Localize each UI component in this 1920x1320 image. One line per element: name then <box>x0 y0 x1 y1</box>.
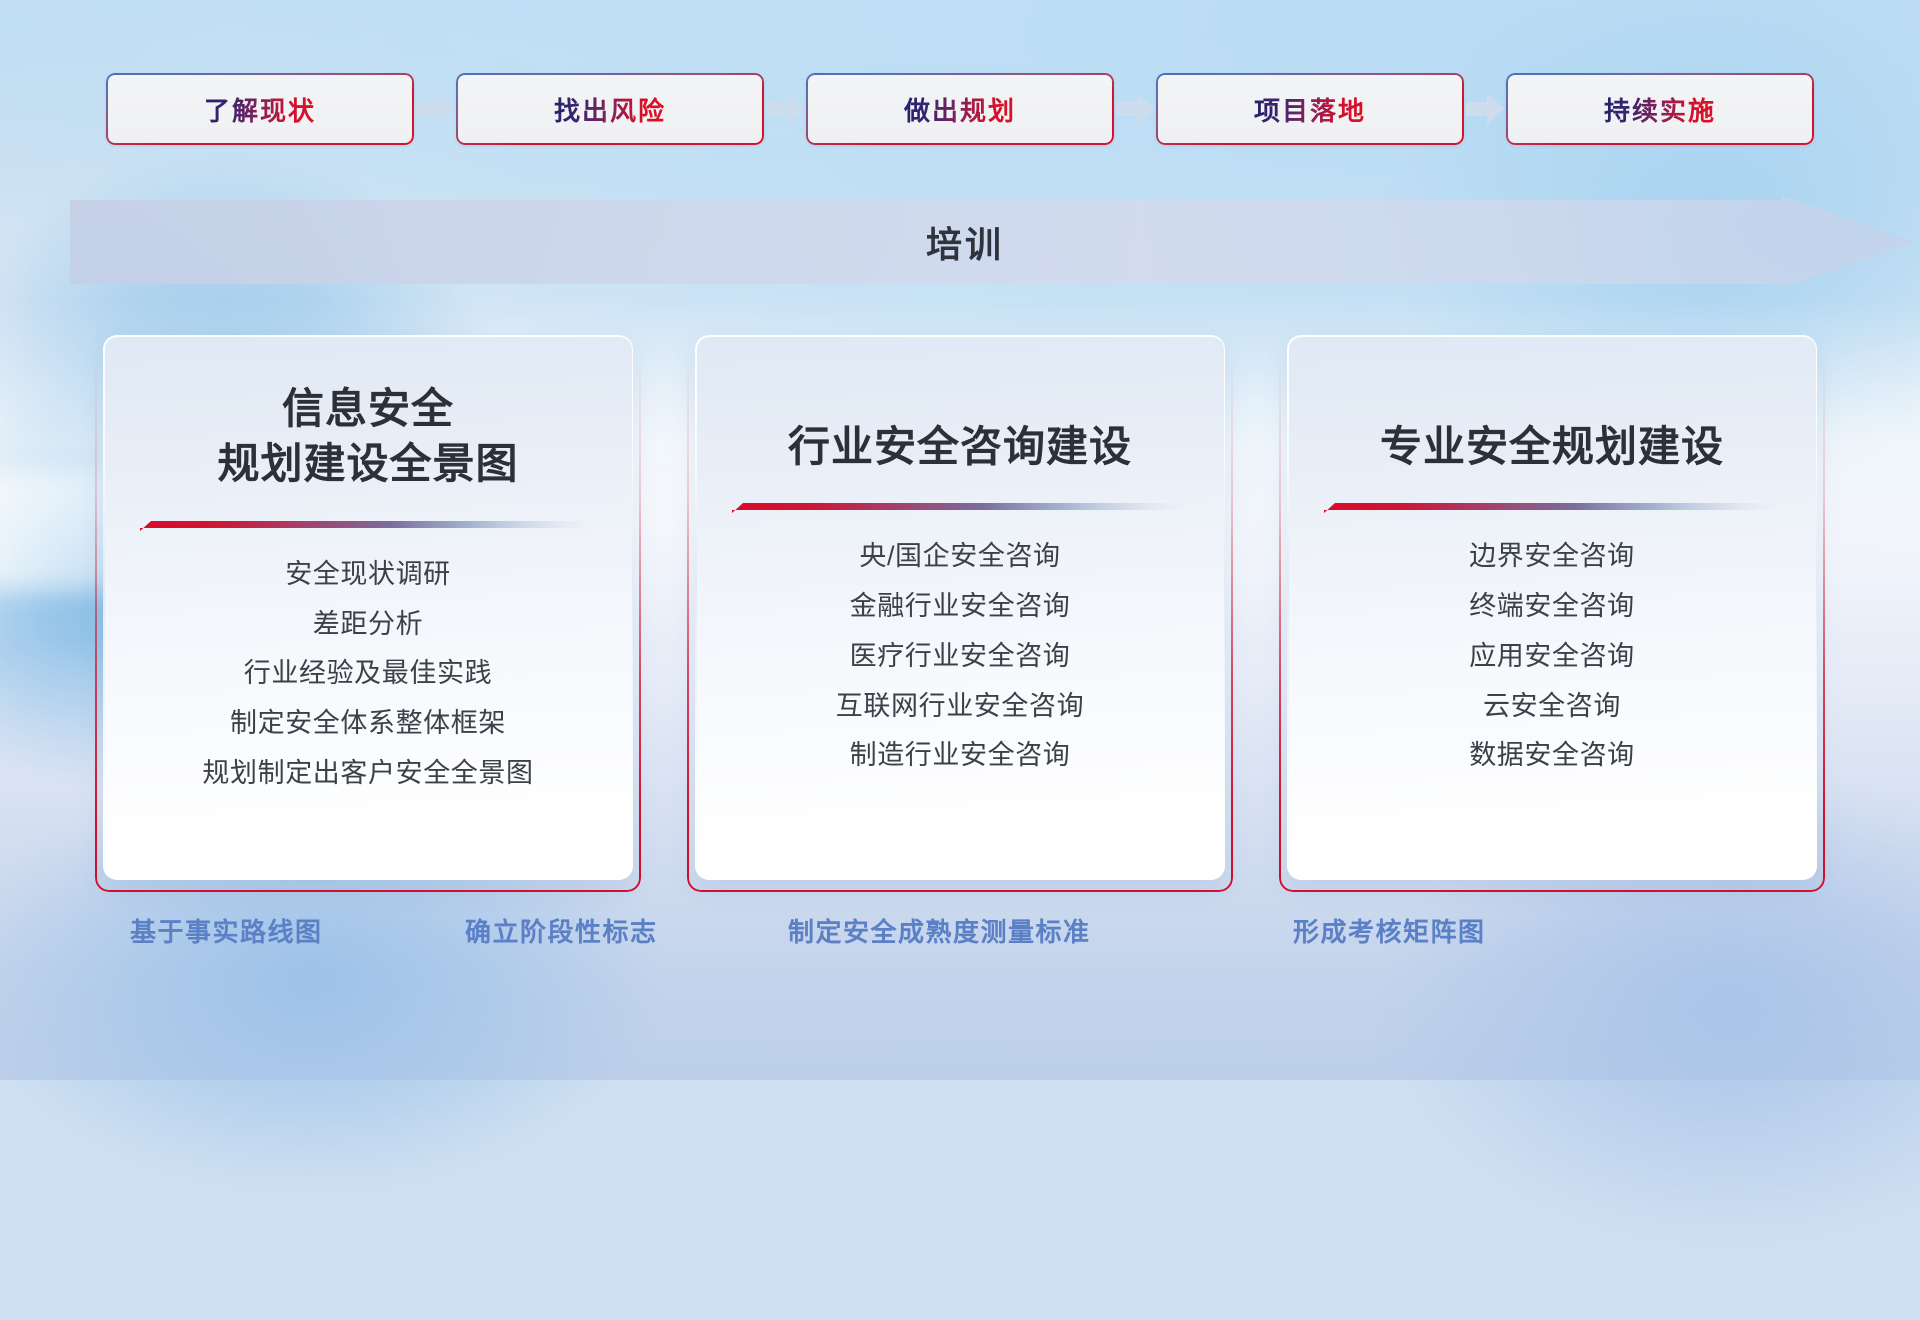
list-item: 安全现状调研 <box>285 558 451 592</box>
list-item: 规划制定出客户安全全景图 <box>202 757 533 791</box>
stage-pill-4[interactable]: 项目落地 <box>1156 73 1464 145</box>
service-card-row: 信息安全 规划建设全景图 <box>0 335 1920 880</box>
list-item: 制定安全体系整体框架 <box>230 707 506 741</box>
list-item: 互联网行业安全咨询 <box>836 690 1084 724</box>
arrow-right-icon <box>1114 72 1156 146</box>
card-title: 专业安全规划建设 <box>1380 419 1724 474</box>
stage-label: 做出规划 <box>904 91 1016 128</box>
service-card[interactable]: 行业安全咨询建设 <box>695 335 1225 880</box>
gradient-divider <box>1324 500 1780 516</box>
list-item: 行业经验及最佳实践 <box>244 657 492 691</box>
footer-label-row: 基于事实路线图 确立阶段性标志 制定安全成熟度测量标准 形成考核矩阵图 <box>0 912 1920 968</box>
stage-label: 了解现状 <box>204 91 316 128</box>
list-item: 应用安全咨询 <box>1469 640 1635 674</box>
list-item: 差距分析 <box>313 608 423 642</box>
card-item-list: 边界安全咨询 终端安全咨询 应用安全咨询 云安全咨询 数据安全咨询 <box>1469 540 1635 773</box>
stage-label: 持续实施 <box>1604 91 1716 128</box>
list-item: 制造行业安全咨询 <box>850 739 1071 773</box>
list-item: 边界安全咨询 <box>1469 540 1635 574</box>
training-banner: 培训 <box>70 196 1915 288</box>
footer-label: 基于事实路线图 <box>130 912 323 949</box>
stage-label: 项目落地 <box>1254 91 1366 128</box>
arrow-right-icon <box>1464 72 1506 146</box>
arrow-right-icon <box>764 72 806 146</box>
service-card[interactable]: 专业安全规划建设 <box>1287 335 1817 880</box>
stage-pill-5[interactable]: 持续实施 <box>1506 73 1814 145</box>
stage-pill-1[interactable]: 了解现状 <box>106 73 414 145</box>
banner-title: 培训 <box>70 196 1860 288</box>
arrow-right-icon <box>414 72 456 146</box>
card-title: 行业安全咨询建设 <box>788 419 1132 474</box>
list-item: 金融行业安全咨询 <box>850 590 1071 624</box>
list-item: 终端安全咨询 <box>1469 590 1635 624</box>
list-item: 医疗行业安全咨询 <box>850 640 1071 674</box>
list-item: 云安全咨询 <box>1483 690 1621 724</box>
footer-label: 确立阶段性标志 <box>465 912 658 949</box>
stage-pill-2[interactable]: 找出风险 <box>456 73 764 145</box>
card-item-list: 安全现状调研 差距分析 行业经验及最佳实践 制定安全体系整体框架 规划制定出客户… <box>202 558 533 791</box>
footer-label: 制定安全成熟度测量标准 <box>788 912 1091 949</box>
process-stage-row: 了解现状 找出风险 做出规划 项目落地 持续实施 <box>0 72 1920 146</box>
list-item: 央/国企安全咨询 <box>859 540 1060 574</box>
gradient-divider <box>140 518 596 534</box>
list-item: 数据安全咨询 <box>1469 739 1635 773</box>
footer-label: 形成考核矩阵图 <box>1293 912 1486 949</box>
card-title: 信息安全 规划建设全景图 <box>217 381 518 492</box>
stage-label: 找出风险 <box>554 91 666 128</box>
gradient-divider <box>732 500 1188 516</box>
service-card[interactable]: 信息安全 规划建设全景图 <box>103 335 633 880</box>
stage-pill-3[interactable]: 做出规划 <box>806 73 1114 145</box>
card-item-list: 央/国企安全咨询 金融行业安全咨询 医疗行业安全咨询 互联网行业安全咨询 制造行… <box>836 540 1084 773</box>
